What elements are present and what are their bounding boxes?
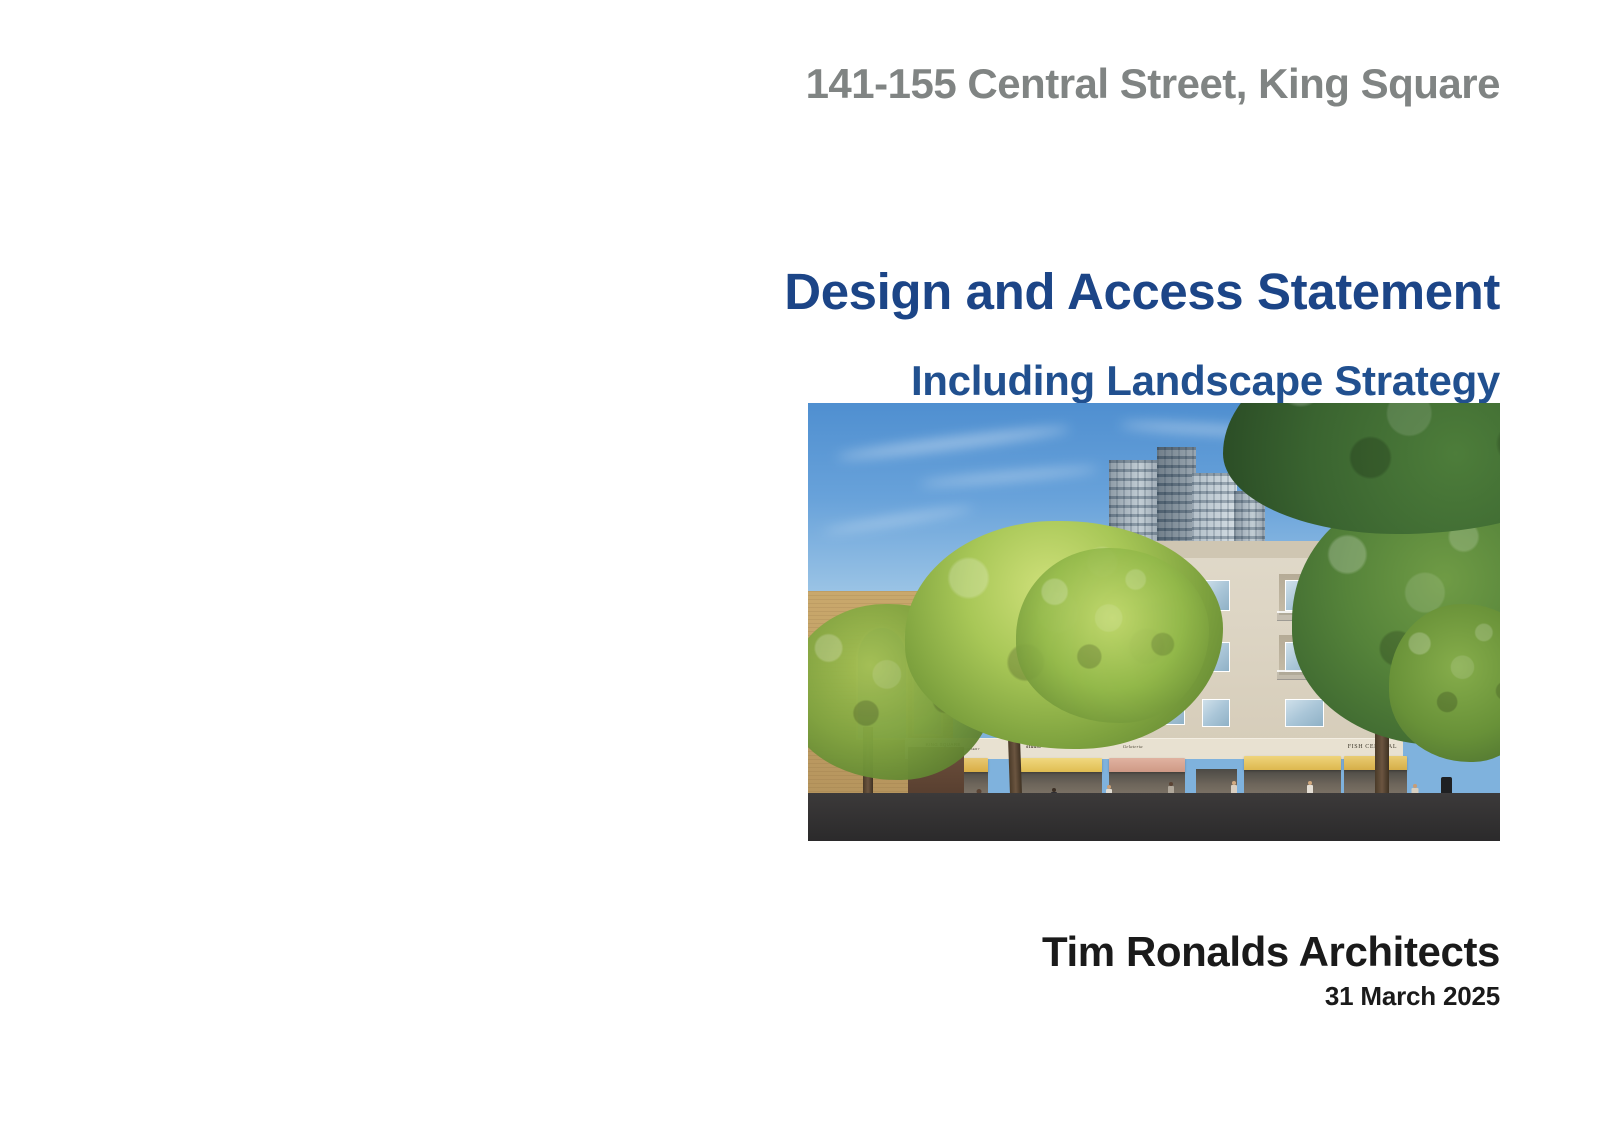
shop-awning xyxy=(1109,758,1185,772)
shop-awning xyxy=(1244,756,1341,770)
cover-page: 141-155 Central Street, King Square Desi… xyxy=(0,0,1600,1131)
gelateria-sign: Gelateria xyxy=(1123,744,1143,749)
practice-name: Tim Ronalds Architects xyxy=(100,928,1500,976)
cover-visualisation-image: KING SQUARE COMMUNITY CENTRE NURSERY stu… xyxy=(808,403,1500,841)
site-address: 141-155 Central Street, King Square xyxy=(100,60,1500,108)
street-tree xyxy=(1016,548,1210,723)
document-date: 31 March 2025 xyxy=(100,981,1500,1012)
page-title: Design and Access Statement xyxy=(100,262,1500,321)
page-subtitle: Including Landscape Strategy xyxy=(100,357,1500,405)
shop-awning xyxy=(1012,758,1102,772)
foliage-texture xyxy=(1016,548,1210,723)
foreground-shadow xyxy=(808,793,1500,841)
building-window xyxy=(1202,699,1230,727)
fish-central-sign: FISH CENTRAL xyxy=(1348,744,1397,750)
cgi-scene: KING SQUARE COMMUNITY CENTRE NURSERY stu… xyxy=(808,403,1500,841)
building-window xyxy=(1285,699,1323,727)
